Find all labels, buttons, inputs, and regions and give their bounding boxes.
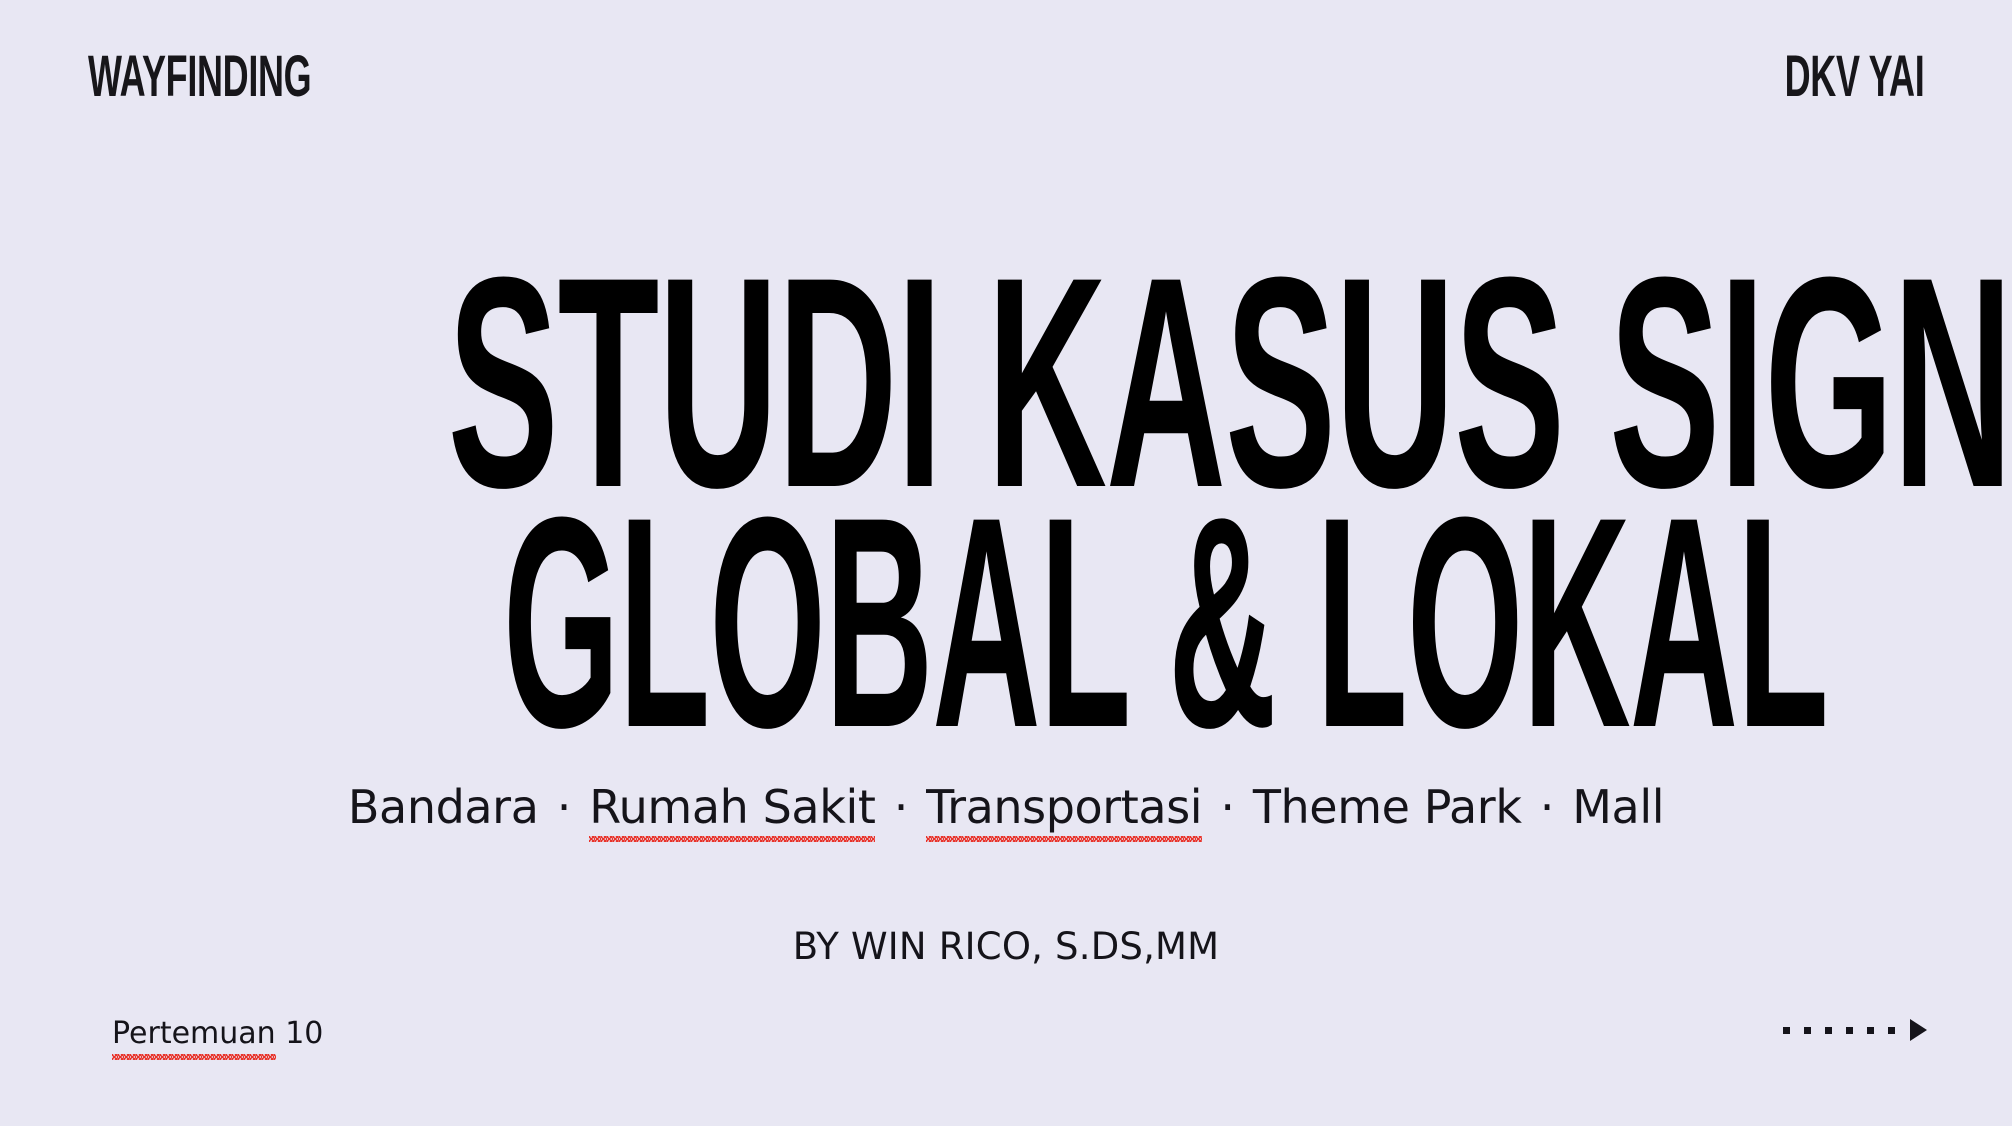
subtitle-separator: · (1536, 780, 1558, 834)
subtitle-separator: · (553, 780, 575, 834)
footer-meeting-note: Pertemuan 10 (112, 1016, 323, 1051)
subtitle-item-transportasi: Transportasi (926, 782, 1202, 833)
header-left-label: WAYFINDING (88, 48, 311, 106)
header-right-label: DKV YAI (1784, 48, 1924, 106)
arrow-dot (1867, 1027, 1874, 1034)
subtitle-item-rumah-sakit: Rumah Sakit (589, 782, 875, 833)
dotted-arrow-icon (1783, 1018, 1927, 1042)
subtitle-item-theme-park: Theme Park (1253, 780, 1522, 834)
arrow-dot (1783, 1027, 1790, 1034)
arrow-head-icon (1910, 1019, 1927, 1041)
arrow-dot (1846, 1027, 1853, 1034)
author-byline: BY WIN RICO, S.DS,MM (0, 925, 2012, 968)
arrow-dot (1825, 1027, 1832, 1034)
arrow-dot (1888, 1027, 1895, 1034)
subtitle-list: Bandara · Rumah Sakit · Transportasi · T… (0, 782, 2012, 833)
footer-meeting-number: 10 (285, 1016, 323, 1051)
slide-canvas: WAYFINDING DKV YAI STUDI KASUS SIGNAGE G… (0, 0, 2012, 1126)
footer-meeting-word: Pertemuan (112, 1016, 276, 1051)
subtitle-item-mall: Mall (1572, 780, 1664, 834)
arrow-dot (1804, 1027, 1811, 1034)
subtitle-separator: · (890, 780, 912, 834)
subtitle-item-bandara: Bandara (348, 780, 539, 834)
page-title: STUDI KASUS SIGNAGE GLOBAL & LOKAL (0, 262, 2012, 742)
title-line-2: GLOBAL & LOKAL (503, 502, 1509, 742)
subtitle-separator: · (1216, 780, 1238, 834)
